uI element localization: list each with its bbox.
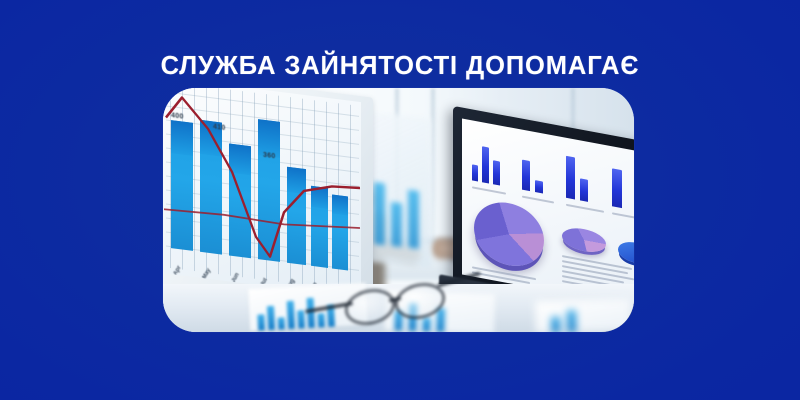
monitor-screen: 400 410 360 Apr May Jun Jul Aug Sep <box>164 88 361 298</box>
bar <box>482 146 489 183</box>
pie-chart-small <box>562 225 606 255</box>
bar <box>580 178 588 201</box>
bar-value-label: 360 <box>263 152 276 161</box>
bar <box>535 180 543 193</box>
eyeglasses <box>341 284 471 324</box>
bar <box>493 160 500 185</box>
trend-line-icon <box>164 88 361 298</box>
bar-value-label: 410 <box>213 123 226 132</box>
page-title: СЛУЖБА ЗАЙНЯТОСТІ ДОПОМАГАЄ <box>0 51 800 81</box>
bar <box>612 168 622 208</box>
poster-canvas: СЛУЖБА ЗАЙНЯТОСТІ ДОПОМАГАЄ <box>0 0 800 400</box>
bar <box>566 156 575 200</box>
laptop-screen <box>462 119 634 308</box>
bar <box>472 164 478 181</box>
printed-report <box>535 299 632 332</box>
pie-chart-edge <box>618 239 634 265</box>
hero-photo: 400 410 360 Apr May Jun Jul Aug Sep <box>163 88 634 332</box>
bar <box>522 160 530 191</box>
window-mullion <box>431 88 435 246</box>
bar-value-label: 400 <box>171 112 184 121</box>
pie-chart <box>474 197 544 272</box>
